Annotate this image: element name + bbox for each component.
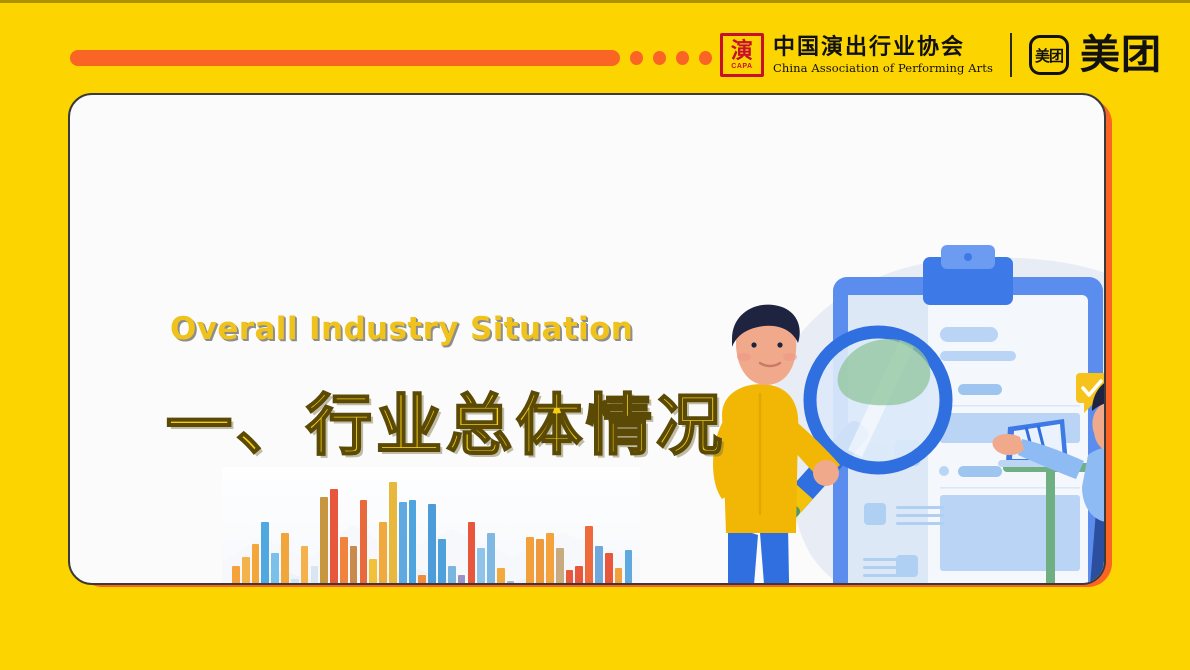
chart-bar <box>291 579 299 585</box>
chart-bar <box>517 583 525 585</box>
content-card: Overall Industry Situation 一、行业总体情况 <box>68 93 1106 585</box>
chart-bar <box>477 548 485 585</box>
chart-bar <box>458 575 466 585</box>
logo-group: 演 CAPA 中国演出行业协会 China Association of Per… <box>720 28 1162 82</box>
meituan-logo: 美团 美团 <box>1029 35 1162 75</box>
header-decor-bar <box>70 50 620 66</box>
capa-name-cn: 中国演出行业协会 <box>773 35 993 59</box>
chart-foreground <box>222 584 640 585</box>
decor-dot <box>653 51 666 65</box>
chart-bar <box>507 581 515 585</box>
chart-bar <box>526 537 534 585</box>
capa-logo: 演 CAPA 中国演出行业协会 China Association of Per… <box>720 33 993 77</box>
chart-bar <box>487 533 495 585</box>
chart-bar <box>252 544 260 585</box>
logo-divider <box>1010 33 1012 77</box>
capa-seal-icon: 演 CAPA <box>720 33 764 77</box>
illustration-svg <box>688 215 1106 585</box>
chart-bar <box>340 537 348 585</box>
meituan-wordmark: 美团 <box>1080 35 1162 75</box>
seal-abbrev: CAPA <box>731 63 752 71</box>
chart-bar <box>497 568 505 585</box>
chart-bar <box>242 557 250 585</box>
chart-bar <box>625 550 633 585</box>
chart-bar <box>428 504 436 585</box>
chart-bar <box>448 566 456 585</box>
chart-bars <box>232 480 632 585</box>
chart-bar <box>389 482 397 585</box>
decor-dot <box>699 51 712 65</box>
chart-bar <box>566 570 574 585</box>
decor-dot <box>630 51 643 65</box>
chart-bar <box>546 533 554 585</box>
chart-bar <box>350 546 358 585</box>
header-decor-dots <box>630 51 712 65</box>
chart-bar <box>468 522 476 585</box>
chart-bar <box>595 546 603 585</box>
chart-bar <box>536 539 544 585</box>
chart-bar <box>360 500 368 585</box>
chart-bar <box>311 566 319 585</box>
chart-bar <box>369 559 377 585</box>
chart-bar <box>301 546 309 585</box>
chart-bar <box>615 568 623 585</box>
chart-bar <box>575 566 583 585</box>
capa-logo-text: 中国演出行业协会 China Association of Performing… <box>773 35 993 75</box>
page-title-english: Overall Industry Situation <box>170 311 633 347</box>
chart-bar <box>605 553 613 585</box>
survey-clipboard-illustration <box>688 215 1106 585</box>
slide-root: 演 CAPA 中国演出行业协会 China Association of Per… <box>0 0 1190 670</box>
chart-bar <box>232 566 240 585</box>
bar-chart-illustration <box>222 467 640 585</box>
meituan-mark-icon: 美团 <box>1029 35 1069 75</box>
seal-character: 演 <box>731 40 753 62</box>
decor-dot <box>676 51 689 65</box>
chart-bar <box>409 500 417 585</box>
chart-bar <box>438 539 446 585</box>
chart-bar <box>281 533 289 585</box>
chart-bar <box>320 497 328 586</box>
chart-bar <box>556 548 564 585</box>
chart-bar <box>330 489 338 585</box>
page-title-chinese: 一、行业总体情况 <box>166 372 726 468</box>
chart-bar <box>585 526 593 585</box>
chart-bar <box>261 522 269 585</box>
chart-bar <box>379 522 387 585</box>
chart-bar <box>418 575 426 585</box>
chart-bar <box>399 502 407 585</box>
chart-bar <box>271 553 279 585</box>
top-edge-line <box>0 0 1190 3</box>
capa-name-en: China Association of Performing Arts <box>773 61 993 75</box>
